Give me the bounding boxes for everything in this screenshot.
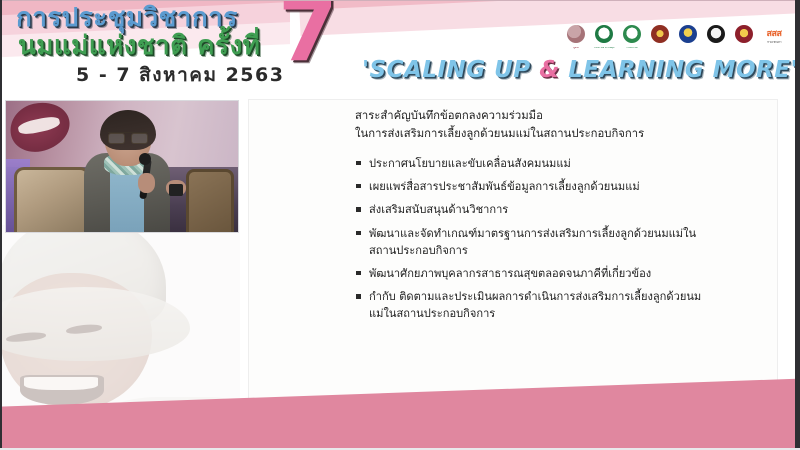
slide-edge-right — [795, 0, 800, 450]
intro-line-2: ในการส่งเสริมการเลี้ยงลูกด้วยนมแม่ในสถาน… — [355, 125, 705, 143]
speaker-hand-left — [138, 173, 155, 193]
sss-sublabel: THAI HEALTH — [760, 40, 788, 44]
watermark-teeth — [24, 377, 98, 390]
eyeglasses-icon — [108, 132, 148, 141]
ministry-public-health-icon — [595, 25, 613, 43]
presentation-slide: 7 การประชุมวิชาการ นมแม่แห่งชาติ ครั้งที… — [0, 0, 800, 450]
university-crest-logo — [676, 24, 700, 50]
tagline-suffix: LEARNING MORE' — [560, 57, 798, 83]
list-item: ประกาศนโยบายและขับเคลื่อนสังคมนมแม่ — [355, 156, 705, 173]
slide-edge-top — [0, 0, 800, 1]
list-item: ส่งเสริมสนับสนุนด้านวิชาการ — [355, 202, 705, 219]
black-seal-icon — [707, 25, 725, 43]
ministry-public-health-logo: กระทรวงสาธารณสุข — [592, 24, 616, 50]
health-department-caption: กรมอนามัย — [620, 47, 644, 50]
footer-band-base — [0, 428, 800, 450]
bullet-list: ประกาศนโยบายและขับเคลื่อนสังคมนมแม่ เผยแ… — [355, 156, 705, 323]
thai-emblem-icon — [651, 25, 669, 43]
list-item: พัฒนาศักยภาพบุคลากรสาธารณสุขตลอดจนภาคีที… — [355, 266, 705, 283]
sss-thaihealth-logo: สสส THAI HEALTH — [760, 24, 788, 50]
intro-line-1: สาระสำคัญบันทึกข้อตกลงความร่วมมือ — [355, 107, 705, 125]
conference-date: 5 - 7 สิงหาคม 2563 — [76, 60, 284, 90]
slide-edge-left — [0, 0, 2, 450]
health-department-logo: กรมอนามัย — [620, 24, 644, 50]
conference-title-line2: นมแม่แห่งชาติ ครั้งที่ — [18, 32, 260, 60]
tagline-prefix: 'SCALING UP — [362, 57, 539, 83]
conference-tagline: 'SCALING UP & LEARNING MORE' — [362, 57, 798, 83]
royal-foundation-icon — [567, 25, 585, 43]
sss-label: สสส — [767, 29, 782, 39]
royal-foundation-caption: มูลนิธิ — [564, 47, 588, 50]
conference-title: การประชุมวิชาการ นมแม่แห่งชาติ ครั้งที่ — [16, 4, 260, 60]
edition-number: 7 — [278, 0, 338, 74]
list-item: เผยแพร่สื่อสารประชาสัมพันธ์ข้อมูลการเลี้… — [355, 179, 705, 196]
royal-foundation-logo: มูลนิธิ — [564, 24, 588, 50]
red-crest-logo — [732, 24, 756, 50]
university-crest-icon — [679, 25, 697, 43]
sss-thaihealth-icon: สสส THAI HEALTH — [760, 26, 788, 44]
black-seal-logo — [704, 24, 728, 50]
conference-title-line1: การประชุมวิชาการ — [16, 4, 260, 32]
thai-emblem-logo — [648, 24, 672, 50]
list-item: กำกับ ติดตามและประเมินผลการดำเนินการส่งเ… — [355, 289, 705, 323]
presenter-clicker-icon — [169, 184, 183, 196]
sponsor-logo-strip: มูลนิธิ กระทรวงสาธารณสุข กรมอนามัย — [564, 24, 788, 50]
armchair-right — [186, 169, 234, 232]
tagline-ampersand: & — [539, 57, 560, 83]
red-crest-icon — [735, 25, 753, 43]
content-text-block: สาระสำคัญบันทึกข้อตกลงความร่วมมือ ในการส… — [355, 107, 705, 329]
speaker-hair — [100, 110, 156, 150]
armchair-left — [14, 167, 90, 233]
slide-header: 7 การประชุมวิชาการ นมแม่แห่งชาติ ครั้งที… — [0, 0, 800, 95]
list-item: พัฒนาและจัดทำเกณฑ์มาตรฐานการส่งเสริมการเ… — [355, 226, 705, 260]
ministry-public-health-caption: กระทรวงสาธารณสุข — [592, 47, 616, 50]
speaker-photo[interactable] — [5, 100, 239, 233]
health-department-icon — [623, 25, 641, 43]
